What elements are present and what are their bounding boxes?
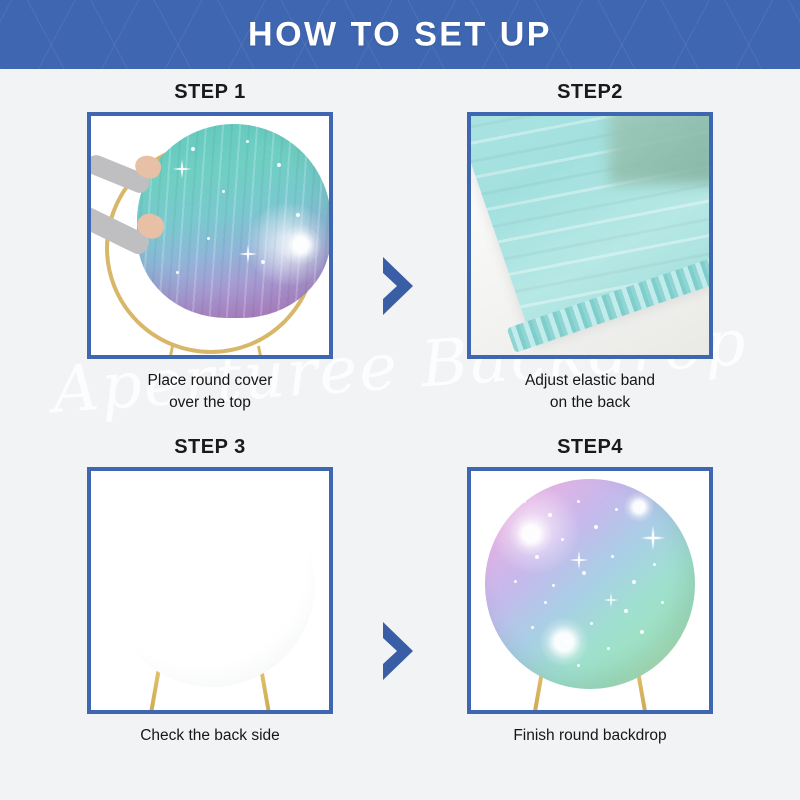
page-header: HOW TO SET UP bbox=[0, 0, 800, 69]
step-title-1: STEP 1 bbox=[60, 80, 360, 104]
finished-backdrop bbox=[485, 479, 695, 689]
step-caption-1-line2: over the top bbox=[60, 392, 360, 414]
backdrop-back-side bbox=[109, 481, 315, 687]
fabric-folds bbox=[137, 124, 331, 318]
step-title-3: STEP 3 bbox=[60, 435, 360, 459]
step-card-3: STEP 3 Check the back side bbox=[60, 435, 360, 747]
chevron-right-icon-1 bbox=[375, 255, 421, 317]
step-caption-2: Adjust elastic band on the back bbox=[440, 370, 740, 415]
step-title-2: STEP2 bbox=[440, 80, 740, 104]
steps-grid: STEP 1 bbox=[0, 69, 800, 800]
step-image-frame-1 bbox=[87, 112, 333, 359]
step-card-1: STEP 1 bbox=[60, 80, 360, 415]
hoop-leg-right bbox=[257, 346, 269, 359]
step-caption-4: Finish round backdrop bbox=[440, 725, 740, 747]
step-illustration-2 bbox=[471, 116, 709, 355]
step-image-frame-3 bbox=[87, 467, 333, 714]
hoop-leg-left bbox=[162, 346, 174, 359]
step-image-frame-2 bbox=[467, 112, 713, 359]
step-illustration-4 bbox=[471, 471, 709, 710]
page-title: HOW TO SET UP bbox=[0, 15, 800, 54]
step-title-4: STEP4 bbox=[440, 435, 740, 459]
background-blur bbox=[609, 112, 713, 184]
step-card-2: STEP2 Adjust elastic band on the back bbox=[440, 80, 740, 415]
step-illustration-1 bbox=[91, 116, 329, 355]
step-caption-3: Check the back side bbox=[60, 725, 360, 747]
step-caption-2-line1: Adjust elastic band bbox=[440, 370, 740, 392]
step-caption-2-line2: on the back bbox=[440, 392, 740, 414]
step-image-frame-4 bbox=[467, 467, 713, 714]
gradient-cover bbox=[137, 124, 331, 318]
step-caption-1-line1: Place round cover bbox=[60, 370, 360, 392]
step-card-4: STEP4 bbox=[440, 435, 740, 747]
step-illustration-3 bbox=[91, 471, 329, 710]
step-caption-1: Place round cover over the top bbox=[60, 370, 360, 415]
step-caption-3-line1: Check the back side bbox=[60, 725, 360, 747]
step-caption-4-line1: Finish round backdrop bbox=[440, 725, 740, 747]
chevron-right-icon-2 bbox=[375, 620, 421, 682]
